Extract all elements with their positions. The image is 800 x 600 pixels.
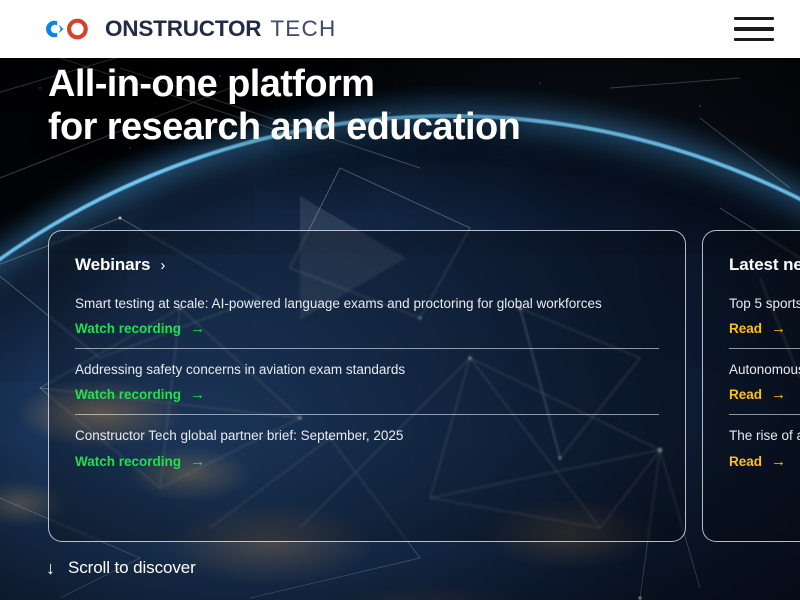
arrow-right-icon: → [771, 454, 786, 469]
headline-line-2: for research and education [48, 106, 520, 149]
logo-wordmark: ONSTRUCTOR [105, 18, 261, 41]
constructor-logo-icon [44, 16, 96, 42]
news-title: Top 5 sports [729, 295, 800, 313]
chevron-right-icon: › [160, 258, 165, 273]
arrow-right-icon: → [771, 387, 786, 402]
watch-recording-link[interactable]: Watch recording → [75, 387, 205, 402]
latest-news-card: Latest news › Top 5 sports Read → Autono… [702, 230, 800, 542]
list-item: Autonomous Read → [729, 348, 800, 414]
watch-recording-link[interactable]: Watch recording → [75, 454, 205, 469]
news-card-header[interactable]: Latest news › [703, 231, 800, 275]
news-card-title: Latest news [729, 255, 800, 275]
webinar-title: Addressing safety concerns in aviation e… [75, 361, 659, 379]
logo-suffix: TECH [270, 18, 336, 41]
burger-line-1 [734, 17, 774, 21]
webinar-title: Constructor Tech global partner brief: S… [75, 427, 659, 445]
list-item: The rise of a models Read → [729, 414, 800, 480]
burger-line-3 [734, 38, 774, 42]
burger-line-2 [734, 27, 774, 31]
read-link[interactable]: Read → [729, 387, 786, 402]
hero-headline: All-in-one platform for research and edu… [48, 63, 520, 149]
webinar-title: Smart testing at scale: AI-powered langu… [75, 295, 659, 313]
page-root: ONSTRUCTOR TECH [0, 0, 800, 600]
news-title: The rise of a models [729, 427, 800, 445]
webinars-list: Smart testing at scale: AI-powered langu… [49, 289, 685, 481]
list-item: Top 5 sports Read → [729, 289, 800, 348]
watch-recording-label: Watch recording [75, 454, 181, 469]
list-item: Constructor Tech global partner brief: S… [75, 414, 659, 480]
arrow-right-icon: → [190, 454, 205, 469]
hamburger-menu-icon[interactable] [734, 14, 774, 44]
scroll-to-discover-label: Scroll to discover [68, 558, 196, 578]
news-title: Autonomous [729, 361, 800, 379]
brand-logo[interactable]: ONSTRUCTOR TECH [44, 16, 336, 42]
list-item: Smart testing at scale: AI-powered langu… [75, 289, 659, 348]
webinars-card: Webinars › Smart testing at scale: AI-po… [48, 230, 686, 542]
news-list: Top 5 sports Read → Autonomous Read → Th… [703, 289, 800, 481]
read-label: Read [729, 454, 762, 469]
site-header: ONSTRUCTOR TECH [0, 0, 800, 58]
watch-recording-label: Watch recording [75, 387, 181, 402]
read-label: Read [729, 387, 762, 402]
arrow-down-icon: ↓ [46, 559, 55, 577]
read-label: Read [729, 321, 762, 336]
webinars-card-title: Webinars [75, 255, 150, 275]
read-link[interactable]: Read → [729, 321, 786, 336]
watch-recording-label: Watch recording [75, 321, 181, 336]
arrow-right-icon: → [190, 321, 205, 336]
scroll-to-discover-button[interactable]: ↓ Scroll to discover [46, 558, 196, 578]
headline-line-1: All-in-one platform [48, 63, 374, 105]
read-link[interactable]: Read → [729, 454, 786, 469]
watch-recording-link[interactable]: Watch recording → [75, 321, 205, 336]
arrow-right-icon: → [771, 321, 786, 336]
list-item: Addressing safety concerns in aviation e… [75, 348, 659, 414]
arrow-right-icon: → [190, 387, 205, 402]
webinars-card-header[interactable]: Webinars › [49, 231, 685, 275]
